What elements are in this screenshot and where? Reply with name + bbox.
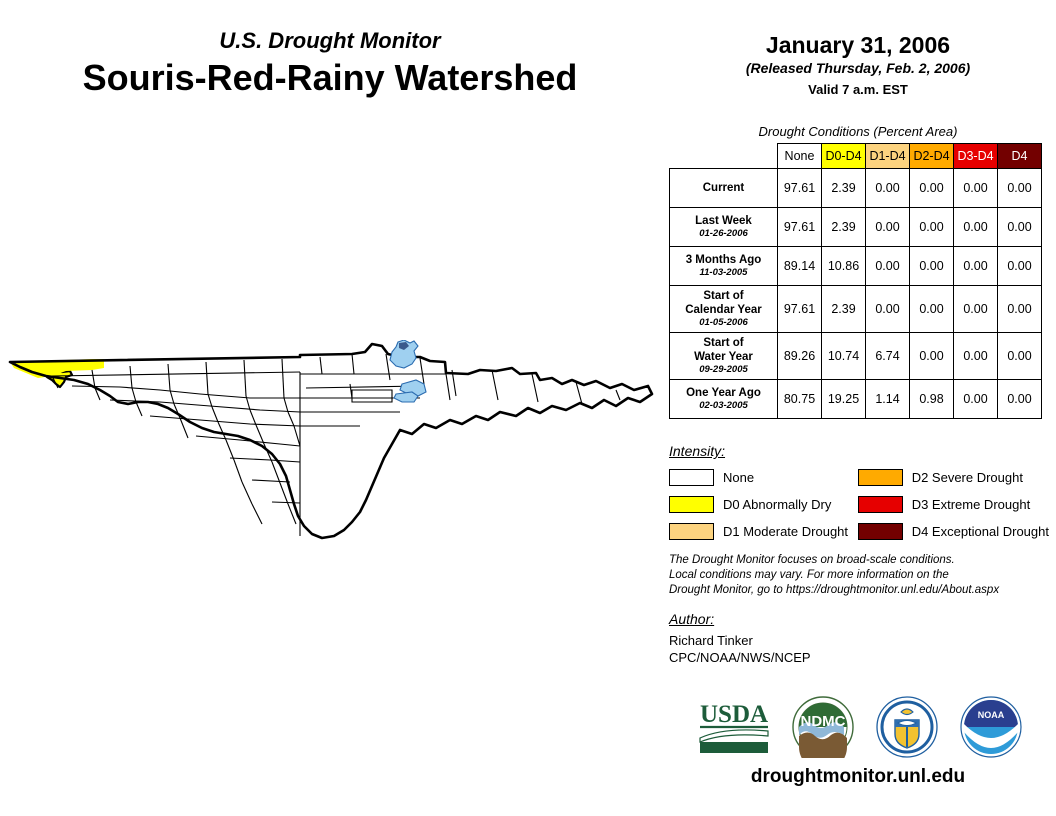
table-cell: 0.00: [998, 333, 1042, 380]
date-block: January 31, 2006 (Released Thursday, Feb…: [660, 32, 1056, 100]
table-row: Current97.612.390.000.000.000.00: [670, 169, 1042, 208]
legend-label: D4 Exceptional Drought: [912, 524, 1049, 539]
table-row: Start ofWater Year09-29-200589.2610.746.…: [670, 333, 1042, 380]
dm-supertitle: U.S. Drought Monitor: [0, 28, 660, 54]
legend-swatch: [858, 523, 903, 540]
table-cell: 6.74: [866, 333, 910, 380]
legend-column-left: NoneD0 Abnormally DryD1 Moderate Drought: [669, 466, 858, 547]
legend-item: None: [669, 466, 858, 489]
table-cell: 0.00: [954, 333, 998, 380]
table-corner-cell: [670, 144, 778, 169]
intensity-title: Intensity:: [669, 443, 1049, 459]
map-lakes: [390, 340, 426, 402]
table-cell: 0.00: [954, 247, 998, 286]
drought-conditions-table: NoneD0-D4D1-D4D2-D4D3-D4D4 Current97.612…: [669, 143, 1042, 419]
table-row: Start ofCalendar Year01-05-200697.612.39…: [670, 286, 1042, 333]
svg-text:NDMC: NDMC: [801, 713, 846, 730]
table-cell: 97.61: [778, 208, 822, 247]
legend-swatch: [669, 469, 714, 486]
row-label: Last Week01-26-2006: [670, 208, 778, 247]
table-cell: 89.14: [778, 247, 822, 286]
table-cell: 0.00: [954, 169, 998, 208]
legend-label: D2 Severe Drought: [912, 470, 1023, 485]
disclaimer-line-1: The Drought Monitor focuses on broad-sca…: [669, 553, 1049, 568]
legend-item: D4 Exceptional Drought: [858, 520, 1049, 543]
county-boundaries: [52, 354, 620, 536]
watershed-map-svg: [0, 340, 660, 600]
disclaimer-text: The Drought Monitor focuses on broad-sca…: [669, 553, 1049, 598]
legend-swatch: [858, 469, 903, 486]
right-panel: January 31, 2006 (Released Thursday, Feb…: [660, 0, 1056, 816]
table-caption: Drought Conditions (Percent Area): [660, 124, 1056, 139]
table-cell: 0.00: [998, 169, 1042, 208]
disclaimer-line-3: Drought Monitor, go to https://droughtmo…: [669, 583, 1049, 598]
table-cell: 10.74: [822, 333, 866, 380]
ndmc-logo: NDMC: [792, 696, 854, 758]
author-title: Author:: [669, 611, 1049, 627]
row-date: 09-29-2005: [672, 364, 775, 376]
table-cell: 0.98: [910, 380, 954, 419]
row-date: 01-05-2006: [672, 317, 775, 329]
issue-date: January 31, 2006: [660, 32, 1056, 59]
legend-swatch: [669, 496, 714, 513]
table-cell: 0.00: [866, 169, 910, 208]
map-main-watershed: [10, 340, 652, 538]
noaa-logo: NOAA: [960, 696, 1022, 758]
table-col-header-d2-d4: D2-D4: [910, 144, 954, 169]
table-cell: 0.00: [910, 208, 954, 247]
table-cell: 97.61: [778, 169, 822, 208]
disclaimer-line-2: Local conditions may vary. For more info…: [669, 568, 1049, 583]
usda-logo: USDA: [698, 698, 770, 756]
author-name: Richard Tinker: [669, 632, 1049, 649]
legend-item: D0 Abnormally Dry: [669, 493, 858, 516]
legend-column-right: D2 Severe DroughtD3 Extreme DroughtD4 Ex…: [858, 466, 1049, 547]
watershed-map: [0, 340, 660, 600]
table-cell: 0.00: [866, 247, 910, 286]
author-block: Author: Richard Tinker CPC/NOAA/NWS/NCEP: [669, 611, 1049, 666]
table-cell: 89.26: [778, 333, 822, 380]
table-cell: 0.00: [910, 333, 954, 380]
table-cell: 2.39: [822, 208, 866, 247]
table-cell: 0.00: [998, 380, 1042, 419]
table-body: Current97.612.390.000.000.000.00Last Wee…: [670, 169, 1042, 419]
row-label: Current: [670, 169, 778, 208]
table-cell: 0.00: [998, 208, 1042, 247]
left-panel: U.S. Drought Monitor Souris-Red-Rainy Wa…: [0, 0, 660, 816]
table-cell: 0.00: [998, 286, 1042, 333]
legend-swatch: [669, 523, 714, 540]
watershed-outline: [10, 344, 652, 538]
table-cell: 2.39: [822, 169, 866, 208]
row-label: 3 Months Ago11-03-2005: [670, 247, 778, 286]
intensity-legend: Intensity: NoneD0 Abnormally DryD1 Moder…: [669, 443, 1049, 547]
row-date: 11-03-2005: [672, 267, 775, 279]
table-header-row: NoneD0-D4D1-D4D2-D4D3-D4D4: [670, 144, 1042, 169]
svg-text:NOAA: NOAA: [978, 710, 1005, 720]
table-cell: 0.00: [866, 208, 910, 247]
logo-row: USDA NDMC: [664, 692, 1056, 762]
legend-item: D2 Severe Drought: [858, 466, 1049, 489]
svg-text:USDA: USDA: [700, 701, 768, 728]
table-cell: 80.75: [778, 380, 822, 419]
table-cell: 0.00: [954, 208, 998, 247]
title-block: U.S. Drought Monitor Souris-Red-Rainy Wa…: [0, 28, 660, 100]
commerce-seal: [876, 696, 938, 758]
table-cell: 0.00: [910, 286, 954, 333]
table-cell: 0.00: [910, 169, 954, 208]
table-col-header-d1-d4: D1-D4: [866, 144, 910, 169]
table-col-header-none: None: [778, 144, 822, 169]
legend-label: None: [723, 470, 754, 485]
table-row: 3 Months Ago11-03-200589.1410.860.000.00…: [670, 247, 1042, 286]
site-url[interactable]: droughtmonitor.unl.edu: [660, 766, 1056, 788]
table-col-header-d0-d4: D0-D4: [822, 144, 866, 169]
table-cell: 0.00: [866, 286, 910, 333]
table-row: Last Week01-26-200697.612.390.000.000.00…: [670, 208, 1042, 247]
row-label: Start ofWater Year09-29-2005: [670, 333, 778, 380]
legend-item: D3 Extreme Drought: [858, 493, 1049, 516]
legend-label: D0 Abnormally Dry: [723, 497, 831, 512]
legend-label: D3 Extreme Drought: [912, 497, 1031, 512]
row-date: 02-03-2005: [672, 400, 775, 412]
table-cell: 0.00: [998, 247, 1042, 286]
table-cell: 97.61: [778, 286, 822, 333]
legend-item: D1 Moderate Drought: [669, 520, 858, 543]
legend-swatch: [858, 496, 903, 513]
table-cell: 2.39: [822, 286, 866, 333]
author-affiliation: CPC/NOAA/NWS/NCEP: [669, 649, 1049, 666]
row-label: Start ofCalendar Year01-05-2006: [670, 286, 778, 333]
released-date: (Released Thursday, Feb. 2, 2006): [660, 59, 1056, 78]
table-col-header-d4: D4: [998, 144, 1042, 169]
table-col-header-d3-d4: D3-D4: [954, 144, 998, 169]
table-cell: 0.00: [954, 286, 998, 333]
table-cell: 0.00: [954, 380, 998, 419]
valid-time: Valid 7 a.m. EST: [660, 80, 1056, 100]
page-title: Souris-Red-Rainy Watershed: [0, 56, 660, 100]
row-date: 01-26-2006: [672, 228, 775, 240]
table-cell: 10.86: [822, 247, 866, 286]
row-label: One Year Ago02-03-2005: [670, 380, 778, 419]
table-cell: 19.25: [822, 380, 866, 419]
table-header: NoneD0-D4D1-D4D2-D4D3-D4D4: [670, 144, 1042, 169]
table-row: One Year Ago02-03-200580.7519.251.140.98…: [670, 380, 1042, 419]
lower-red-lake: [394, 392, 418, 402]
table-cell: 0.00: [910, 247, 954, 286]
table-cell: 1.14: [866, 380, 910, 419]
legend-label: D1 Moderate Drought: [723, 524, 848, 539]
